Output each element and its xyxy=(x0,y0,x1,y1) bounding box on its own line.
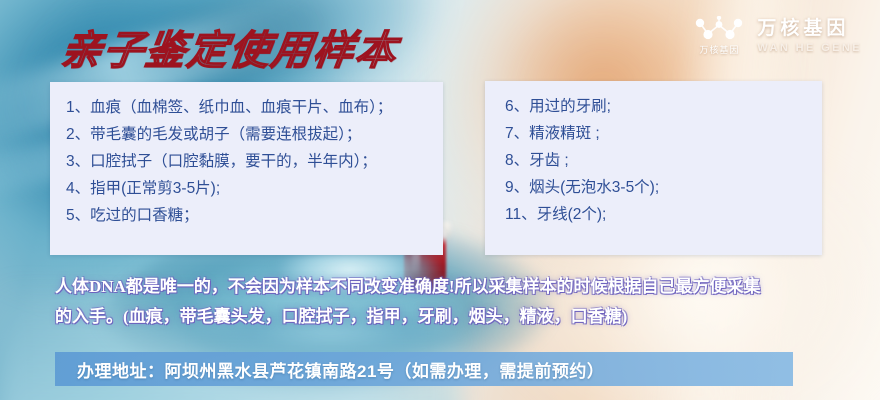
sample-list-right: 6、用过的牙刷; 7、精液精斑 ; 8、牙齿 ; 9、烟头(无泡水3-5个); … xyxy=(485,81,822,228)
list-item: 4、指甲(正常剪3-5片); xyxy=(66,175,443,202)
brand-logo: 万核基因 万核基因 WAN HE GENE xyxy=(693,14,862,58)
address-bar: 办理地址：阿坝州黑水县芦花镇南路21号（如需办理，需提前预约） xyxy=(55,352,793,386)
list-item: 11、牙线(2个); xyxy=(505,201,822,228)
list-item: 7、精液精斑 ; xyxy=(505,120,822,147)
list-item: 2、带毛囊的毛发或胡子（需要连根拔起）； xyxy=(66,121,443,148)
logo-mark: 万核基因 xyxy=(693,16,745,56)
logo-mark-label: 万核基因 xyxy=(699,43,739,56)
promo-banner: 亲子鉴定使用样本 xyxy=(0,0,880,400)
sample-list-left: 1、血痕（血棉签、纸巾血、血痕干片、血布）； 2、带毛囊的毛发或胡子（需要连根拔… xyxy=(50,82,443,229)
sample-list-panel-left: 1、血痕（血棉签、纸巾血、血痕干片、血布）； 2、带毛囊的毛发或胡子（需要连根拔… xyxy=(50,82,443,255)
dna-molecule-icon xyxy=(693,16,745,42)
list-item: 5、吃过的口香糖； xyxy=(66,202,443,229)
list-item: 8、牙齿 ; xyxy=(505,147,822,174)
address-text: 办理地址：阿坝州黑水县芦花镇南路21号（如需办理，需提前预约） xyxy=(55,357,604,382)
brand-wordmark: 万核基因 WAN HE GENE xyxy=(757,19,862,54)
explanatory-note: 人体DNA都是唯一的，不会因为样本不同改变准确度!所以采集样本的时候根据自己最方… xyxy=(55,272,845,332)
brand-name-en: WAN HE GENE xyxy=(757,43,862,54)
sample-list-panel-right: 6、用过的牙刷; 7、精液精斑 ; 8、牙齿 ; 9、烟头(无泡水3-5个); … xyxy=(485,81,822,255)
list-item: 3、口腔拭子（口腔黏膜，要干的，半年内）； xyxy=(66,148,443,175)
note-line-2: 的入手。(血痕，带毛囊头发，口腔拭子，指甲，牙刷，烟头，精液，口香糖) xyxy=(55,302,845,332)
note-line-1: 人体DNA都是唯一的，不会因为样本不同改变准确度!所以采集样本的时候根据自己最方… xyxy=(55,272,845,302)
list-item: 9、烟头(无泡水3-5个); xyxy=(505,174,822,201)
brand-name-cn: 万核基因 xyxy=(757,19,862,38)
list-item: 6、用过的牙刷; xyxy=(505,93,822,120)
page-title: 亲子鉴定使用样本 xyxy=(58,18,402,76)
list-item: 1、血痕（血棉签、纸巾血、血痕干片、血布）； xyxy=(66,94,443,121)
